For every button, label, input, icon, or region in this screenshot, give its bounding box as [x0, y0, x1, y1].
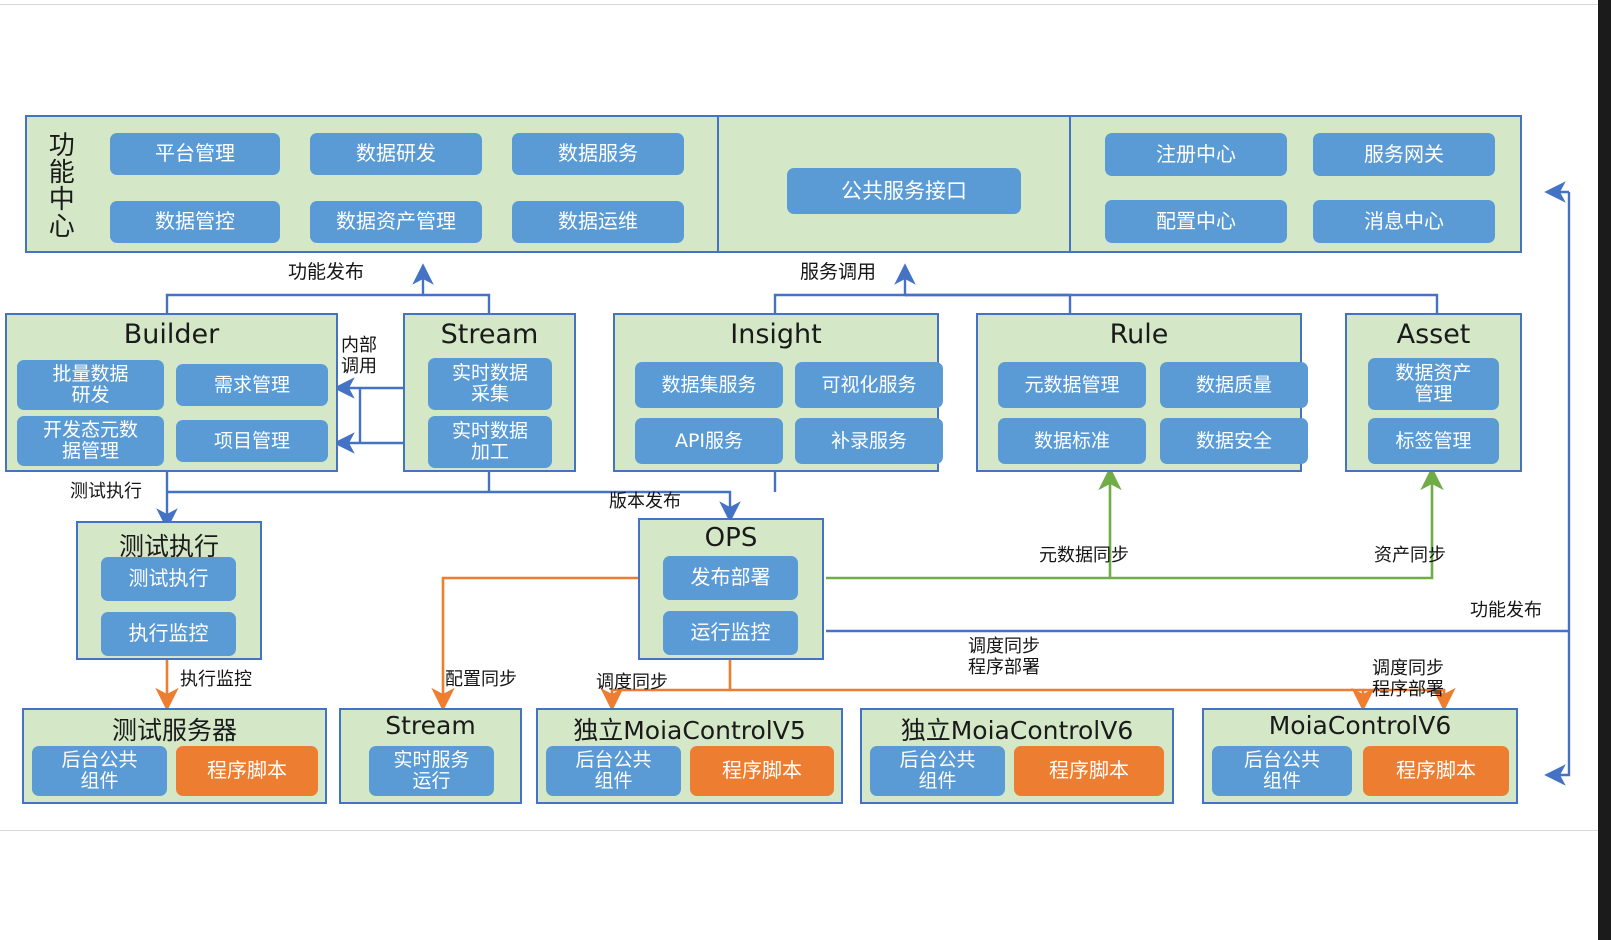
platform-insight-title: Insight — [615, 319, 937, 350]
edge-label-config-sync: 配置同步 — [445, 670, 517, 691]
chip-config-center[interactable]: 配置中心 — [1105, 200, 1287, 243]
right-edge-bar — [1598, 0, 1611, 940]
chip-realtime-data-processing[interactable]: 实时数据 加工 — [428, 416, 552, 468]
chip-execution-monitoring[interactable]: 执行监控 — [101, 612, 236, 656]
chip-realtime-data-collection[interactable]: 实时数据 采集 — [428, 358, 552, 410]
chip-data-asset-management[interactable]: 数据资产管理 — [310, 201, 482, 243]
server-independent-moiacontrolv6-title: 独立MoiaControlV6 — [862, 711, 1172, 747]
chip-project-management[interactable]: 项目管理 — [176, 420, 328, 462]
chip-program-script-2[interactable]: 程序脚本 — [690, 746, 834, 796]
chip-requirement-management[interactable]: 需求管理 — [176, 364, 328, 406]
panel-divider-2 — [1069, 117, 1071, 251]
edge-label-feature-publish-right: 功能发布 — [1470, 601, 1542, 622]
chip-realtime-service-runtime[interactable]: 实时服务 运行 — [369, 746, 494, 796]
chip-metadata-management[interactable]: 元数据管理 — [998, 362, 1146, 408]
platform-builder-title: Builder — [7, 319, 336, 350]
server-moiacontrolv5-title: 独立MoiaControlV5 — [538, 711, 841, 747]
chip-release-deploy[interactable]: 发布部署 — [663, 556, 798, 600]
edge-label-internal-call: 内部 调用 — [341, 336, 377, 377]
top-hairline — [0, 4, 1598, 5]
chip-visualization-service[interactable]: 可视化服务 — [795, 362, 943, 408]
platform-stream-title: Stream — [405, 319, 574, 350]
node-ops-title: OPS — [640, 523, 822, 553]
chip-program-script-4[interactable]: 程序脚本 — [1363, 746, 1509, 796]
chip-dataset-service[interactable]: 数据集服务 — [635, 362, 783, 408]
chip-batch-data-development[interactable]: 批量数据 研发 — [17, 360, 164, 410]
edge-label-schedule-sync-deploy-2: 调度同步 程序部署 — [1372, 659, 1444, 700]
chip-data-security[interactable]: 数据安全 — [1160, 418, 1308, 464]
chip-runtime-monitoring[interactable]: 运行监控 — [663, 611, 798, 655]
edge-label-test-execute: 测试执行 — [70, 482, 142, 503]
chip-service-gateway[interactable]: 服务网关 — [1313, 133, 1495, 176]
chip-program-script-3[interactable]: 程序脚本 — [1014, 746, 1164, 796]
chip-data-asset-mgmt[interactable]: 数据资产 管理 — [1368, 358, 1499, 410]
bottom-hairline — [0, 830, 1598, 831]
chip-public-service-interface[interactable]: 公共服务接口 — [787, 168, 1021, 214]
chip-data-development[interactable]: 数据研发 — [310, 133, 482, 175]
edge-label-schedule-sync: 调度同步 — [596, 673, 668, 694]
chip-tag-management[interactable]: 标签管理 — [1368, 418, 1499, 464]
chip-registry-center[interactable]: 注册中心 — [1105, 133, 1287, 176]
chip-data-service[interactable]: 数据服务 — [512, 133, 684, 175]
chip-api-service[interactable]: API服务 — [635, 418, 783, 464]
edge-label-asset-sync: 资产同步 — [1374, 546, 1446, 567]
edge-label-execute-monitor: 执行监控 — [180, 670, 252, 691]
server-stream-title: Stream — [341, 711, 520, 740]
edge-label-schedule-sync-deploy-1: 调度同步 程序部署 — [968, 637, 1040, 678]
platform-rule-title: Rule — [978, 319, 1300, 350]
server-moiacontrolv6-title: MoiaControlV6 — [1204, 711, 1516, 740]
chip-backend-common-component-1[interactable]: 后台公共 组件 — [32, 746, 167, 796]
chip-supplement-service[interactable]: 补录服务 — [795, 418, 943, 464]
edge-label-version-publish: 版本发布 — [609, 492, 681, 513]
chip-program-script-1[interactable]: 程序脚本 — [176, 746, 318, 796]
chip-data-governance[interactable]: 数据管控 — [110, 201, 280, 243]
chip-backend-common-component-3[interactable]: 后台公共 组件 — [870, 746, 1005, 796]
edge-label-service-call: 服务调用 — [800, 262, 876, 284]
chip-platform-management[interactable]: 平台管理 — [110, 133, 280, 175]
chip-data-standard[interactable]: 数据标准 — [998, 418, 1146, 464]
chip-test-execution[interactable]: 测试执行 — [101, 557, 236, 601]
edge-label-feature-publish-top: 功能发布 — [288, 262, 364, 284]
edge-label-metadata-sync: 元数据同步 — [1039, 546, 1129, 567]
platform-asset-title: Asset — [1347, 319, 1520, 350]
chip-data-quality[interactable]: 数据质量 — [1160, 362, 1308, 408]
architecture-diagram-canvas: 功能中心 平台管理 数据研发 数据服务 数据管控 数据资产管理 数据运维 公共服… — [0, 0, 1611, 940]
server-test-server-title: 测试服务器 — [24, 711, 325, 747]
chip-backend-common-component-4[interactable]: 后台公共 组件 — [1212, 746, 1352, 796]
chip-backend-common-component-2[interactable]: 后台公共 组件 — [546, 746, 681, 796]
panel-divider-1 — [717, 117, 719, 251]
chip-data-operations[interactable]: 数据运维 — [512, 201, 684, 243]
chip-dev-metadata-management[interactable]: 开发态元数 据管理 — [17, 416, 164, 466]
function-center-label: 功能中心 — [35, 123, 83, 247]
chip-message-center[interactable]: 消息中心 — [1313, 200, 1495, 243]
